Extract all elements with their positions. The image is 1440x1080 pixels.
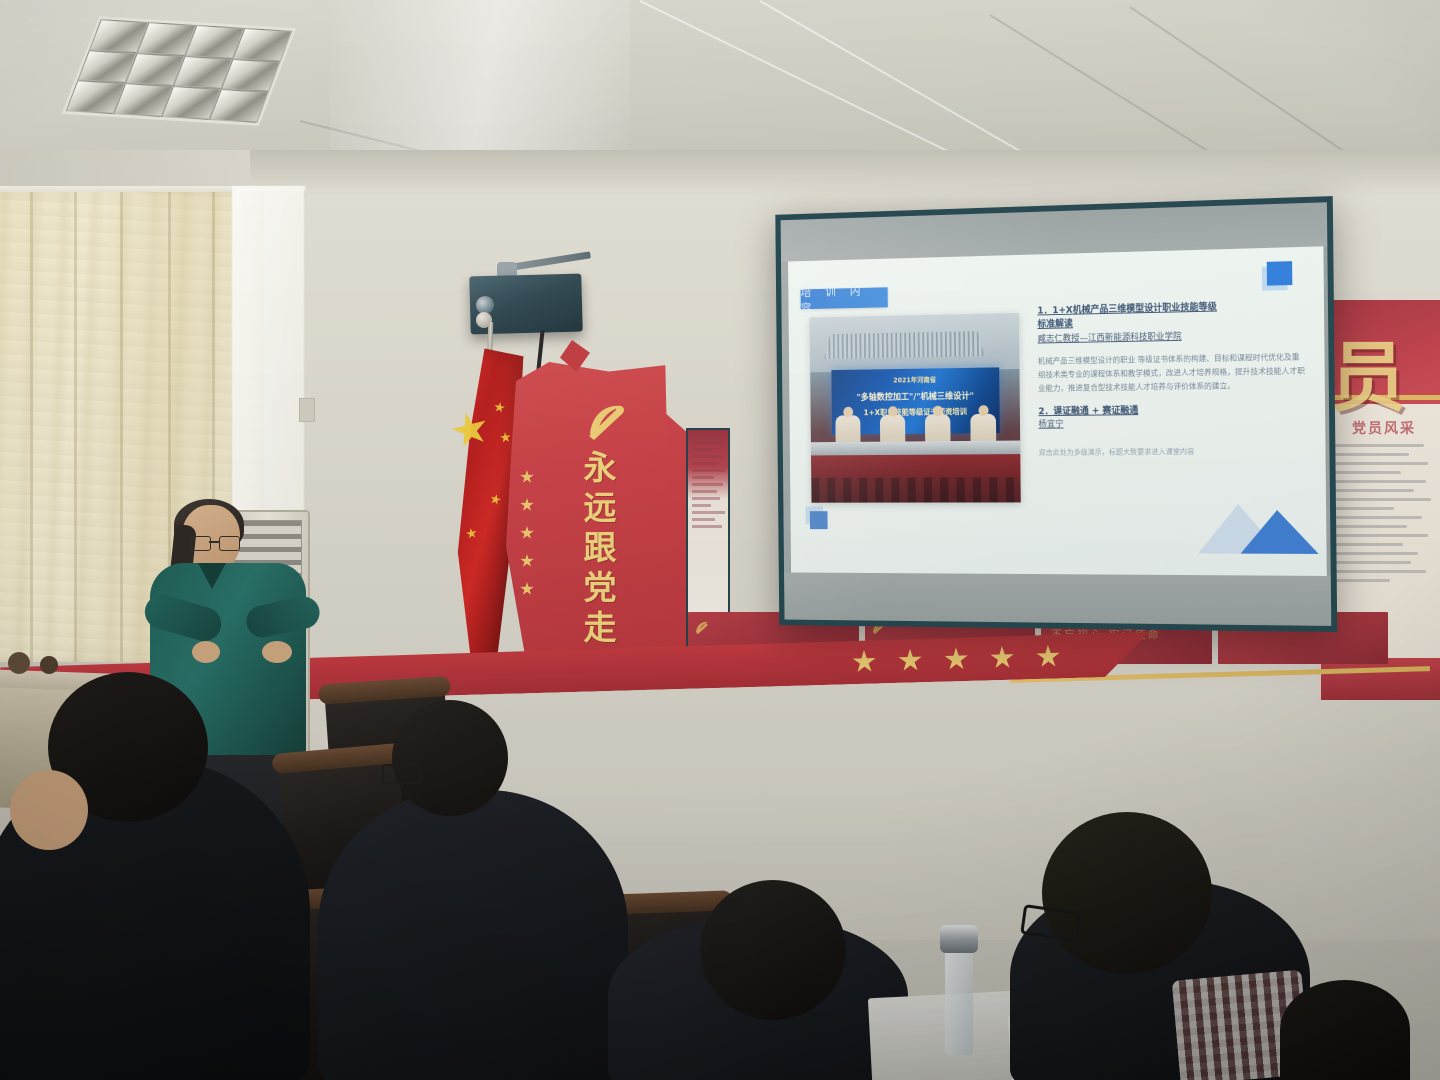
audience-person: [318, 790, 628, 1080]
projection-screen: 培 训 内 容 2021年河南省 "多轴数控加工"/"机械三维设计" 1+X职业…: [775, 196, 1337, 632]
star-icon: [944, 647, 969, 672]
glasses-icon: [190, 536, 238, 549]
presenter-hand-right: [262, 641, 292, 663]
star-icon: [990, 646, 1015, 671]
led-line-2: "多轴数控加工"/"机械三维设计": [832, 389, 1000, 404]
water-bottle[interactable]: [938, 925, 980, 1055]
slide-accent-square-bottom-left: [810, 511, 828, 529]
slide-note: 双击此处为多级演示，标题大致要求进入课堂内容: [1039, 445, 1308, 459]
audience-person-head: [700, 880, 846, 1020]
star-icon: [520, 526, 534, 540]
slide-text-column: 1．1+X机械产品三维模型设计职业技能等级 标准解读 臧志仁教授—江西新能源科技…: [1037, 299, 1308, 459]
star-icon: [1036, 644, 1061, 669]
slide-accent-square-top-right: [1267, 261, 1293, 286]
audience-person-head: [1280, 980, 1410, 1080]
ceiling-light-icon: [61, 16, 296, 126]
presenter-hand-left: [192, 641, 220, 663]
presentation-slide: 培 训 内 容 2021年河南省 "多轴数控加工"/"机械三维设计" 1+X职业…: [788, 246, 1327, 576]
poster-big-character: 员: [1330, 316, 1406, 426]
audience-person-face: [10, 770, 88, 850]
star-icon: [898, 648, 923, 673]
star-icon: [520, 470, 534, 484]
bottle-cap-icon: [940, 925, 978, 953]
hammer-sickle-mini-icon: [694, 620, 710, 635]
slide-mountain-graphic: [1180, 490, 1326, 554]
party-slogan-text: 永远跟党走: [572, 448, 628, 648]
star-icon: [520, 498, 534, 512]
slide-paragraph: 机械产品三维模型设计的职业 等级证书体系的构建、目标和课程时代优化及重组技术类专…: [1038, 350, 1307, 395]
slide-speaker-2: 杨宜宁: [1038, 416, 1307, 431]
audience-person-head: [1042, 812, 1212, 974]
table-object: [8, 652, 30, 674]
projection-surface: 培 训 内 容 2021年河南省 "多轴数控加工"/"机械三维设计" 1+X职业…: [781, 202, 1332, 626]
projection-letterbox-bottom: [784, 572, 1331, 626]
audience-person-head: [392, 700, 508, 816]
poster-body: 党员风采: [1321, 404, 1440, 602]
led-line-1: 2021年河南省: [831, 374, 999, 386]
photo-audience-seats: [811, 477, 1021, 502]
star-icon: [520, 554, 534, 568]
glasses-icon: [382, 764, 422, 784]
wall-shadow: [250, 150, 1440, 196]
photo-ceiling-baffle: [824, 331, 984, 359]
table-object: [40, 656, 58, 674]
classroom-photo-scene: 永远跟党走 党员风采 员: [0, 0, 1440, 1080]
hammer-and-sickle-icon: [584, 400, 628, 442]
poster-footer: [1321, 658, 1440, 700]
slide-section-badge: 培 训 内 容: [801, 287, 888, 309]
party-board-stars: [520, 470, 534, 610]
star-icon: [520, 582, 534, 596]
star-icon: [852, 650, 877, 675]
wall-switch-plate[interactable]: [299, 398, 315, 422]
bottle-body: [945, 951, 973, 1055]
slide-embedded-photo: 2021年河南省 "多轴数控加工"/"机械三维设计" 1+X职业技能等级证书师资…: [810, 313, 1021, 503]
